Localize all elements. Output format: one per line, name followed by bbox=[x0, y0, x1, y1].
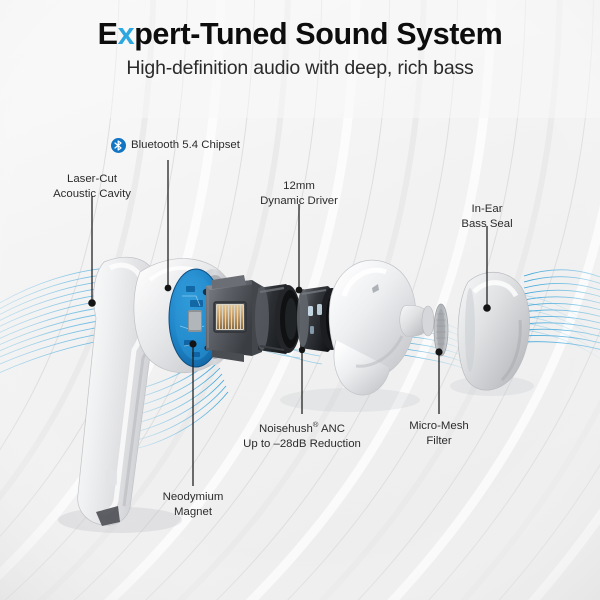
dot-magnet bbox=[189, 340, 196, 347]
callout-driver-line2: Dynamic Driver bbox=[260, 194, 338, 209]
bluetooth-icon bbox=[111, 138, 126, 153]
callout-mesh-line1: Micro-Mesh bbox=[409, 420, 469, 432]
callout-bluetooth-chipset: Bluetooth 5.4 Chipset bbox=[111, 138, 240, 153]
dot-anc bbox=[299, 347, 305, 353]
header-block: Expert-Tuned Sound System High-definitio… bbox=[0, 0, 600, 80]
callout-laser-cut-line1: Laser-Cut bbox=[67, 173, 117, 185]
page-title: Expert-Tuned Sound System bbox=[0, 0, 600, 50]
title-highlight: x bbox=[118, 17, 135, 51]
infographic-canvas: Expert-Tuned Sound System High-definitio… bbox=[0, 0, 600, 600]
dot-bass-seal bbox=[483, 304, 491, 312]
callout-bluetooth-label: Bluetooth 5.4 Chipset bbox=[131, 138, 240, 153]
callout-anc-tail: ANC bbox=[318, 423, 345, 435]
page-subtitle: High-definition audio with deep, rich ba… bbox=[0, 50, 600, 80]
callout-in-ear-bass-seal: In-Ear Bass Seal bbox=[461, 202, 512, 232]
callout-laser-cut-line2: Acoustic Cavity bbox=[53, 187, 131, 202]
callout-dynamic-driver: 12mm Dynamic Driver bbox=[260, 179, 338, 209]
callout-mesh-line2: Filter bbox=[409, 434, 469, 449]
dot-driver bbox=[296, 287, 303, 294]
callout-bass-seal-line1: In-Ear bbox=[471, 203, 502, 215]
callout-anc-line2: Up to –28dB Reduction bbox=[243, 437, 361, 452]
callout-noisehush-anc: Noisehush® ANC Up to –28dB Reduction bbox=[243, 420, 361, 452]
callout-anc-brand: Noisehush bbox=[259, 423, 313, 435]
callout-driver-line1: 12mm bbox=[283, 180, 315, 192]
callout-leader-lines bbox=[0, 0, 600, 600]
callout-neodymium-magnet: Neodymium Magnet bbox=[163, 490, 224, 520]
dot-mesh bbox=[435, 348, 442, 355]
callout-bass-seal-line2: Bass Seal bbox=[461, 217, 512, 232]
callout-micro-mesh-filter: Micro-Mesh Filter bbox=[409, 419, 469, 449]
dot-laser-cut bbox=[88, 299, 96, 307]
callout-laser-cut-acoustic-cavity: Laser-Cut Acoustic Cavity bbox=[53, 172, 131, 202]
callout-magnet-line2: Magnet bbox=[163, 505, 224, 520]
title-pre: E bbox=[98, 17, 118, 51]
callout-magnet-line1: Neodymium bbox=[163, 491, 224, 503]
title-post: pert-Tuned Sound System bbox=[134, 17, 502, 51]
dot-bluetooth bbox=[165, 285, 172, 292]
